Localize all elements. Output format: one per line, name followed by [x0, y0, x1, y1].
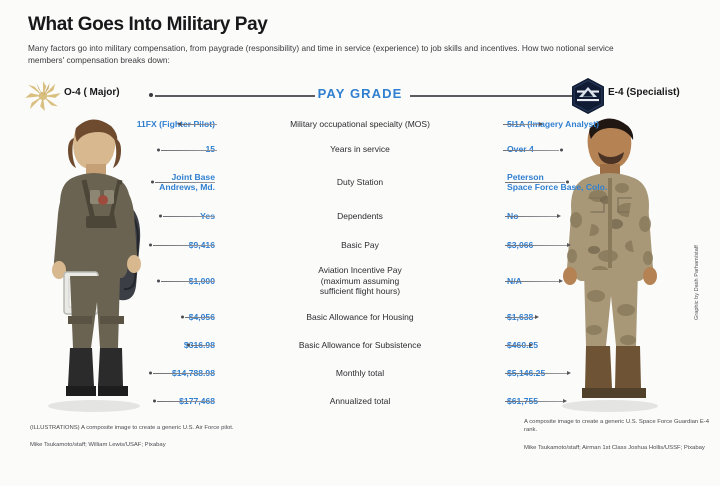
connector-line-right [505, 216, 557, 217]
connector-line-left [181, 124, 217, 125]
connector-line-left [161, 281, 215, 282]
connector-line-left [153, 373, 215, 374]
table-row: $316.98 Basic Allowance for Subsistence … [0, 331, 720, 359]
connector-dot-left [149, 93, 153, 97]
connector-dot-left [153, 400, 156, 403]
connector-line-left [185, 317, 215, 318]
connector-line-right [503, 124, 539, 125]
arrow-right [557, 214, 561, 218]
row-label: Years in service [225, 144, 495, 155]
credit-right-caption: A composite image to create a generic U.… [524, 419, 709, 433]
connector-dot-left [149, 372, 152, 375]
row-label-text: Aviation Incentive Pay (maximum assuming… [318, 265, 401, 296]
row-label-text: Monthly total [336, 368, 384, 378]
table-row: Yes Dependents No [0, 201, 720, 231]
credit-right-source: Mike Tsukamoto/staff; Airman 1st Class J… [524, 444, 719, 452]
connector-line-right [505, 401, 563, 402]
connector-dot-right [560, 148, 563, 151]
row-label-text: Basic Allowance for Housing [306, 312, 413, 322]
paygrade-line-right [410, 95, 576, 97]
credit-right: A composite image to create a generic U.… [524, 418, 719, 452]
table-row: $4,056 Basic Allowance for Housing $1,63… [0, 303, 720, 331]
connector-line-right [505, 317, 535, 318]
row-label-text: Duty Station [337, 177, 383, 187]
connector-dot-left [159, 215, 162, 218]
connector-dot-left [157, 148, 160, 151]
row-label-text: Annualized total [330, 396, 391, 406]
row-label: Monthly total [225, 368, 495, 379]
connector-line-left [161, 150, 217, 151]
row-label: Annualized total [225, 396, 495, 407]
comparison-rows: 11FX (Fighter Pilot) Military occupation… [0, 112, 720, 415]
row-label-text: Basic Pay [341, 240, 379, 250]
connector-line-left [163, 216, 215, 217]
connector-dot-left [157, 280, 160, 283]
credit-left-caption: (ILLUSTRATIONS) A composite image to cre… [30, 425, 234, 431]
arrow-right [539, 122, 543, 126]
row-label: Basic Pay [225, 240, 495, 251]
connector-dot-left [151, 181, 154, 184]
credit-left-source: Mike Tsukamoto/staff; William Lewis/USAF… [30, 441, 240, 449]
arrow-right [563, 399, 567, 403]
page-subtitle: Many factors go into military compensati… [28, 43, 636, 66]
table-row: $14,788.98 Monthly total $5,146.25 [0, 359, 720, 387]
connector-line-right [505, 182, 565, 183]
row-label-text: Military occupational specialty (MOS) [290, 119, 430, 129]
arrow-right [559, 279, 563, 283]
table-row: Joint Base Andrews, Md. Duty Station Pet… [0, 163, 720, 201]
row-label: Duty Station [225, 177, 495, 188]
connector-dot-left [149, 244, 152, 247]
infographic-page: What Goes Into Military Pay Many factors… [0, 0, 720, 486]
row-label-text: Dependents [337, 211, 383, 221]
connector-line-left [155, 182, 215, 183]
connector-line-right [505, 373, 567, 374]
connector-line-right [505, 281, 559, 282]
rank-label-left: O-4 ( Major) [64, 87, 120, 98]
row-label: Military occupational specialty (MOS) [225, 119, 495, 130]
arrow-right [529, 343, 533, 347]
graphic-credit-vertical: Graphic by Dash Parham/staff [694, 245, 700, 320]
paygrade-line-left [155, 95, 315, 97]
row-label: Dependents [225, 211, 495, 222]
arrow-right [567, 243, 571, 247]
connector-dot-right [566, 181, 569, 184]
credit-left: (ILLUSTRATIONS) A composite image to cre… [30, 424, 240, 450]
table-row: 15 Years in service Over 4 [0, 136, 720, 163]
connector-line-left [191, 345, 215, 346]
row-label-text: Basic Allowance for Subsistence [299, 340, 421, 350]
arrow-right [535, 315, 539, 319]
connector-dot-left [181, 316, 184, 319]
connector-line-left [157, 401, 215, 402]
arrow-right [567, 371, 571, 375]
table-row: $1,000 Aviation Incentive Pay (maximum a… [0, 259, 720, 303]
arrow-left [177, 122, 181, 126]
connector-line-right [503, 150, 559, 151]
table-row: 11FX (Fighter Pilot) Military occupation… [0, 112, 720, 136]
connector-line-right [505, 245, 567, 246]
connector-line-right [505, 345, 529, 346]
paygrade-label: PAY GRADE [318, 86, 403, 101]
connector-line-left [153, 245, 215, 246]
row-label-text: Years in service [330, 144, 390, 154]
page-title: What Goes Into Military Pay [28, 14, 628, 36]
table-row: $9,416 Basic Pay $3,066 [0, 231, 720, 259]
connector-dot-left [187, 344, 190, 347]
header: What Goes Into Military Pay Many factors… [28, 14, 628, 66]
row-label: Basic Allowance for Subsistence [225, 340, 495, 351]
row-label: Basic Allowance for Housing [225, 312, 495, 323]
table-row: $177,468 Annualized total $61,755 [0, 387, 720, 415]
rank-label-right: E-4 (Specialist) [608, 87, 680, 98]
row-label: Aviation Incentive Pay (maximum assuming… [225, 265, 495, 297]
